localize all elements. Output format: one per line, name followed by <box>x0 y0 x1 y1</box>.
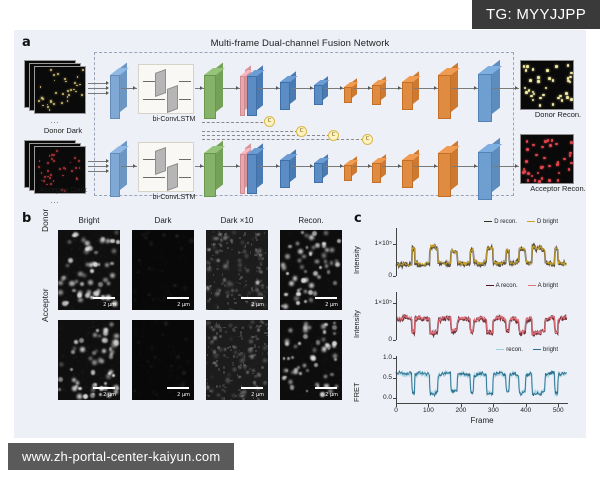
molecule-dot <box>526 140 529 143</box>
molecule-spot <box>72 234 75 237</box>
molecule-spot <box>289 380 293 384</box>
molecule-spot <box>213 246 216 249</box>
connector-line <box>202 135 330 136</box>
molecule-dot <box>38 100 40 102</box>
molecule-spot <box>304 300 307 303</box>
y-tick-mark <box>393 276 396 277</box>
molecule-spot <box>246 269 249 272</box>
molecule-spot <box>149 241 153 245</box>
molecule-spot <box>66 264 69 267</box>
panel-c: c 01×10⁵IntensityD recon.D bright01×10⁵I… <box>350 210 586 438</box>
molecule-dot <box>50 69 52 71</box>
molecule-spot <box>252 290 254 292</box>
molecule-spot <box>116 385 119 388</box>
trace-subplot-1: 01×10⁵IntensityA recon.A bright <box>396 292 568 340</box>
molecule-dot <box>82 69 84 71</box>
arrow-head <box>515 86 518 90</box>
trace-line-d-bright <box>396 244 566 266</box>
molecule-spot <box>324 231 328 235</box>
x-axis-label: Frame <box>396 416 568 425</box>
molecule-spot <box>255 285 257 287</box>
molecule-spot <box>224 264 228 268</box>
conv-block-acceptor-1 <box>110 146 127 197</box>
molecule-spot <box>330 261 334 265</box>
molecule-dot <box>527 179 530 182</box>
molecule-dot <box>76 85 78 87</box>
legend-label: D recon. <box>494 219 517 225</box>
molecule-dot <box>62 175 64 177</box>
connector-line <box>202 122 268 123</box>
molecule-spot <box>238 376 240 378</box>
molecule-spot <box>256 338 259 341</box>
molecule-spot <box>310 355 315 360</box>
molecule-spot <box>245 254 249 258</box>
molecule-dot <box>526 148 529 151</box>
molecule-spot <box>240 359 244 363</box>
molecule-spot <box>101 237 105 241</box>
molecule-spot <box>258 292 261 295</box>
molecule-spot <box>159 359 161 361</box>
molecule-spot <box>137 341 140 344</box>
conv-block-donor-enc1 <box>280 76 296 110</box>
molecule-spot <box>282 376 286 380</box>
arrow-head <box>200 164 203 168</box>
panel-b: b Bright Dark Dark ×10 Recon. Donor Acce… <box>14 210 350 438</box>
molecule-spot <box>133 289 136 292</box>
arrow-head <box>398 86 401 90</box>
arrow-head <box>133 164 136 168</box>
y-axis <box>396 292 397 340</box>
molecule-spot <box>176 377 178 379</box>
molecule-spot <box>246 371 248 373</box>
conv-block-acceptor-blue <box>247 148 263 194</box>
molecule-dot <box>38 166 40 168</box>
molecule-dot <box>557 97 560 100</box>
scale-bar-label: 2 μm <box>103 302 116 308</box>
molecule-spot <box>286 272 289 275</box>
molecule-spot <box>249 325 251 327</box>
molecule-dot <box>40 86 42 88</box>
molecule-dot <box>523 170 526 173</box>
molecule-dot <box>537 172 540 175</box>
molecule-spot <box>333 322 336 325</box>
conv-block-donor-1 <box>110 68 127 119</box>
molecule-spot <box>285 339 289 343</box>
molecule-dot <box>62 93 64 95</box>
molecule-spot <box>235 326 237 328</box>
molecule-spot <box>247 242 249 244</box>
molecule-spot <box>162 233 166 237</box>
molecule-spot <box>243 250 246 253</box>
molecule-dot <box>67 96 69 98</box>
molecule-dot <box>79 84 81 86</box>
molecule-spot <box>164 321 168 325</box>
molecule-spot <box>110 273 115 278</box>
y-axis <box>396 228 397 276</box>
molecule-dot <box>44 176 46 178</box>
molecule-spot <box>322 338 325 341</box>
molecule-spot <box>169 376 171 378</box>
molecule-spot <box>69 281 74 286</box>
donor-input-label: Donor Dark <box>24 126 102 135</box>
y-tick-label: 1.0 <box>356 354 392 361</box>
molecule-dot <box>71 170 73 172</box>
molecule-spot <box>105 263 109 267</box>
molecule-spot <box>260 263 263 266</box>
molecule-dot <box>569 81 572 84</box>
molecule-dot <box>75 167 77 169</box>
molecule-spot <box>230 239 233 242</box>
molecule-spot <box>215 292 219 296</box>
molecule-spot <box>115 231 118 234</box>
y-tick-label: 0 <box>356 272 392 279</box>
panel-a-title: Multi-frame Dual-channel Fusion Network <box>14 38 586 49</box>
molecule-spot <box>58 377 63 382</box>
molecule-spot <box>330 248 334 252</box>
legend-label: A bright <box>538 283 558 289</box>
molecule-spot <box>293 370 298 375</box>
row-label-acceptor: Acceptor <box>40 288 50 322</box>
molecule-dot <box>53 103 55 105</box>
molecule-spot <box>147 360 150 363</box>
donor-stack-ellipsis: ... <box>24 118 86 125</box>
molecule-spot <box>264 291 266 293</box>
molecule-spot <box>301 231 304 234</box>
molecule-spot <box>309 283 314 288</box>
molecule-spot <box>241 241 244 244</box>
molecule-spot <box>207 300 210 303</box>
molecule-spot <box>166 290 169 293</box>
molecule-spot <box>302 255 305 258</box>
molecule-spot <box>60 363 64 367</box>
molecule-dot <box>539 104 542 107</box>
molecule-spot <box>207 267 211 271</box>
molecule-spot <box>211 390 213 392</box>
molecule-spot <box>58 388 61 391</box>
molecule-dot <box>555 143 558 146</box>
conv-block-donor-dec4 <box>438 68 458 119</box>
molecule-spot <box>132 230 134 232</box>
molecule-spot <box>73 347 76 350</box>
arrow-head <box>474 86 477 90</box>
molecule-dot <box>569 154 572 157</box>
molecule-dot <box>65 81 67 83</box>
molecule-spot <box>304 290 307 293</box>
molecule-spot <box>98 263 101 266</box>
scale-bar <box>93 297 115 299</box>
connector-line <box>88 83 106 84</box>
molecule-dot <box>547 139 550 142</box>
molecule-spot <box>210 341 212 343</box>
molecule-spot <box>206 386 210 390</box>
molecule-spot <box>334 358 337 361</box>
molecule-spot <box>99 393 102 396</box>
molecule-spot <box>244 368 246 370</box>
legend: A recon.A bright <box>486 283 568 289</box>
watermark-badge: www.zh-portal-center-kaiyun.com <box>8 443 234 470</box>
molecule-dot <box>557 161 560 164</box>
molecule-dot <box>532 99 535 102</box>
arrow-head <box>434 86 437 90</box>
y-tick-mark <box>393 378 396 379</box>
molecule-spot <box>243 390 247 394</box>
molecule-spot <box>249 368 251 370</box>
arrow-head <box>368 86 371 90</box>
molecule-spot <box>253 381 256 384</box>
bi-convlstm-donor-label: bi-ConvLSTM <box>138 116 210 123</box>
molecule-spot <box>106 374 111 379</box>
molecule-spot <box>66 301 69 304</box>
molecule-spot <box>217 259 220 262</box>
conv-block-acceptor-dec4 <box>438 146 458 197</box>
molecule-spot <box>235 289 238 292</box>
x-axis <box>396 403 568 404</box>
molecule-spot <box>281 305 283 307</box>
molecule-dot <box>568 168 571 171</box>
concat-node-1: C <box>264 116 275 127</box>
molecule-spot <box>213 350 216 353</box>
molecule-spot <box>61 276 66 281</box>
molecule-dot <box>549 144 552 147</box>
molecule-spot <box>323 330 327 334</box>
molecule-spot <box>230 338 232 340</box>
arrow-head <box>515 164 518 168</box>
molecule-spot <box>231 289 234 292</box>
molecule-dot <box>543 157 546 160</box>
molecule-dot <box>50 100 52 102</box>
molecule-spot <box>148 267 151 270</box>
molecule-dot <box>563 158 566 161</box>
molecule-spot <box>298 259 301 262</box>
scale-bar-label: 2 μm <box>251 302 264 308</box>
molecule-dot <box>55 92 57 94</box>
y-tick-mark <box>393 244 396 245</box>
scale-bar-label: 2 μm <box>325 392 338 398</box>
molecule-spot <box>333 354 337 358</box>
input-stack-donor <box>24 60 86 114</box>
molecule-spot <box>207 248 210 251</box>
molecule-spot <box>325 248 329 252</box>
molecule-dot <box>548 179 551 182</box>
molecule-dot <box>541 177 544 180</box>
molecule-spot <box>180 247 183 250</box>
molecule-spot <box>213 336 217 340</box>
arrow-head <box>340 164 343 168</box>
molecule-spot <box>301 278 306 283</box>
molecule-dot <box>555 65 558 68</box>
molecule-dot <box>70 162 72 164</box>
molecule-dot <box>532 144 535 147</box>
molecule-spot <box>248 292 250 294</box>
arrow-head <box>310 86 313 90</box>
molecule-spot <box>233 346 237 350</box>
molecule-spot <box>246 301 248 303</box>
molecule-spot <box>103 328 107 332</box>
molecule-spot <box>289 281 294 286</box>
molecule-spot <box>85 247 88 250</box>
molecule-spot <box>257 328 260 331</box>
molecule-spot <box>144 236 148 240</box>
legend: D recon.D bright <box>484 219 568 225</box>
y-tick-mark <box>393 303 396 304</box>
molecule-dot <box>57 73 59 75</box>
arrow-head <box>474 164 477 168</box>
molecule-spot <box>316 340 320 344</box>
panel-b-letter: b <box>22 212 31 225</box>
legend-label: A recon. <box>496 283 518 289</box>
molecule-spot <box>206 287 210 291</box>
molecule-dot <box>531 175 534 178</box>
molecule-dot <box>525 91 528 94</box>
molecule-spot <box>175 234 179 238</box>
arrow-head <box>133 86 136 90</box>
molecule-spot <box>98 358 103 363</box>
molecule-spot <box>76 381 79 384</box>
concat-node-3: C <box>328 130 339 141</box>
column-header-dark: Dark <box>132 216 194 225</box>
molecule-spot <box>227 281 230 284</box>
conv-block-acceptor-dec3 <box>402 154 419 188</box>
molecule-spot <box>78 298 82 302</box>
column-header-recon: Recon. <box>280 216 342 225</box>
scale-bar-label: 2 μm <box>103 392 116 398</box>
molecule-spot <box>107 282 110 285</box>
molecule-spot <box>290 385 294 389</box>
connector-line <box>88 171 106 172</box>
trace-line-bright <box>396 371 566 396</box>
acceptor-input-label: Acceptor Dark <box>24 185 102 194</box>
molecule-dot <box>539 97 542 100</box>
molecule-spot <box>244 246 246 248</box>
molecule-spot <box>309 235 314 240</box>
legend-label: bright <box>543 347 558 353</box>
molecule-dot <box>567 64 570 67</box>
molecule-dot <box>527 172 530 175</box>
molecule-spot <box>303 334 308 339</box>
legend-swatch <box>486 285 494 287</box>
y-tick-label: 1×10⁵ <box>356 240 392 247</box>
trace-subplot-0: 01×10⁵IntensityD recon.D bright <box>396 228 568 276</box>
molecule-spot <box>238 353 241 356</box>
molecule-dot <box>545 87 548 90</box>
molecule-spot <box>102 349 106 353</box>
micrograph-donor-dark: 2 μm <box>132 230 194 310</box>
molecule-dot <box>59 168 61 170</box>
molecule-spot <box>242 354 244 356</box>
arrow-head <box>310 164 313 168</box>
molecule-spot <box>313 291 317 295</box>
molecule-dot <box>538 180 541 183</box>
molecule-dot <box>78 160 80 162</box>
molecule-spot <box>314 363 318 367</box>
molecule-spot <box>150 346 154 350</box>
molecule-spot <box>58 281 62 285</box>
molecule-spot <box>304 270 307 273</box>
acceptor-recon-label: Acceptor Recon. <box>520 184 596 193</box>
molecule-spot <box>220 244 222 246</box>
conv-block-donor-dec2 <box>372 80 386 105</box>
molecule-spot <box>229 324 232 327</box>
conv-block-donor-dec1 <box>344 82 357 103</box>
molecule-spot <box>212 328 215 331</box>
molecule-spot <box>286 369 288 371</box>
molecule-dot <box>538 80 541 83</box>
molecule-spot <box>219 327 221 329</box>
molecule-spot <box>252 238 255 241</box>
molecule-spot <box>182 371 186 375</box>
molecule-spot <box>169 391 172 394</box>
conv-block-acceptor-out <box>478 144 500 200</box>
molecule-spot <box>111 343 116 348</box>
molecule-spot <box>285 254 290 259</box>
molecule-dot <box>43 180 45 182</box>
molecule-spot <box>96 329 99 332</box>
molecule-spot <box>298 342 301 345</box>
molecule-spot <box>306 246 309 249</box>
molecule-spot <box>75 280 78 283</box>
micrograph-acceptor-bright: 2 μm <box>58 320 120 400</box>
molecule-spot <box>305 234 308 237</box>
molecule-dot <box>532 68 535 71</box>
molecule-dot <box>64 78 66 80</box>
molecule-spot <box>58 290 63 295</box>
molecule-spot <box>332 325 337 330</box>
molecule-spot <box>256 280 260 284</box>
molecule-spot <box>156 348 158 350</box>
arrow-head <box>398 164 401 168</box>
molecule-spot <box>206 321 210 325</box>
micrograph-acceptor-recon: 2 μm <box>280 320 342 400</box>
arrow-head <box>236 86 239 90</box>
molecule-spot <box>309 298 313 302</box>
molecule-spot <box>257 252 261 256</box>
x-tick-label: 0 <box>384 407 408 414</box>
bi-convlstm-donor <box>138 64 194 114</box>
conv-block-donor-green <box>204 68 223 119</box>
molecule-dot <box>551 139 554 142</box>
molecule-dot <box>81 94 83 96</box>
donor-recon-label: Donor Recon. <box>520 110 596 119</box>
molecule-spot <box>78 387 81 390</box>
molecule-dot <box>570 162 573 165</box>
connector-line <box>88 88 106 89</box>
molecule-spot <box>294 345 297 348</box>
molecule-spot <box>155 245 157 247</box>
molecule-spot <box>252 369 256 373</box>
arrow-head <box>340 86 343 90</box>
molecule-dot <box>67 90 69 92</box>
y-axis-label: Intensity <box>352 246 361 274</box>
molecule-spot <box>211 376 213 378</box>
molecule-spot <box>90 269 94 273</box>
molecule-spot <box>333 332 336 335</box>
molecule-spot <box>161 270 163 272</box>
molecule-spot <box>263 381 267 385</box>
micrograph-donor-dark-10: 2 μm <box>206 230 268 310</box>
molecule-spot <box>92 262 95 265</box>
molecule-spot <box>260 261 262 263</box>
connector-line <box>88 166 106 167</box>
molecule-spot <box>77 293 82 298</box>
row-label-donor: Donor <box>40 209 50 232</box>
arrow-head <box>106 159 109 163</box>
molecule-spot <box>254 354 256 356</box>
micrograph-acceptor-dark: 2 μm <box>132 320 194 400</box>
molecule-dot <box>75 91 77 93</box>
molecule-spot <box>251 321 254 324</box>
molecule-spot <box>178 256 181 259</box>
arrow-head <box>236 164 239 168</box>
